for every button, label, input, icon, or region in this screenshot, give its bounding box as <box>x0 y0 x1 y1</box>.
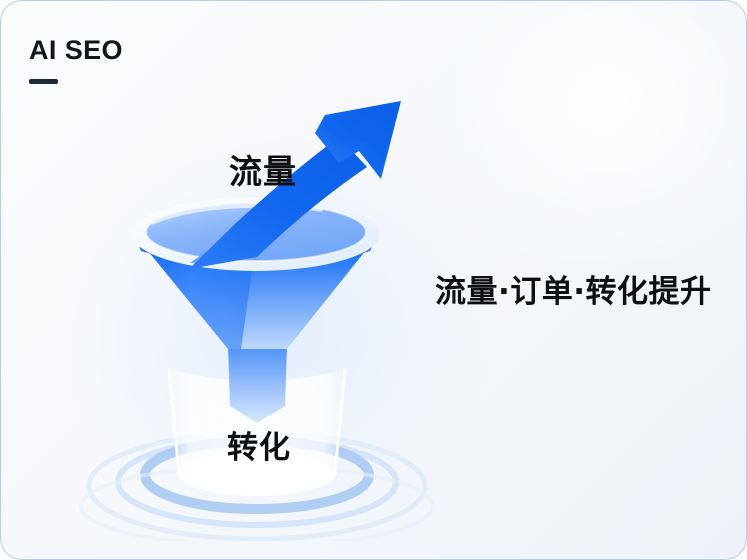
page-title: AI SEO <box>29 37 123 64</box>
header: AI SEO <box>29 37 123 84</box>
background-highlight <box>426 0 747 261</box>
title-underline-rule <box>29 79 58 84</box>
headline-text: 流量·订单·转化提升 <box>435 277 712 308</box>
label-traffic: 流量 <box>229 155 297 188</box>
label-conversion: 转化 <box>227 433 291 464</box>
poster-canvas: AI SEO <box>0 0 747 560</box>
